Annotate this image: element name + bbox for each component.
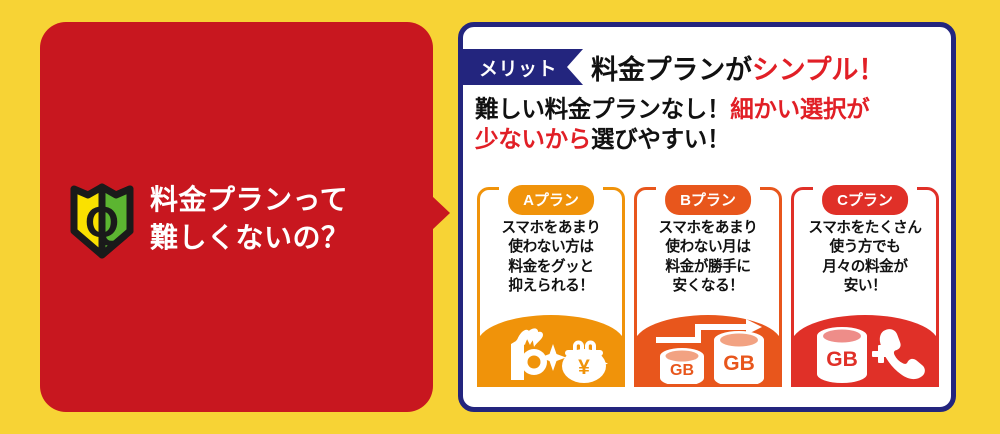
plan-card-b-badge: Bプラン [665, 185, 751, 215]
gb-cylinder-plus-phone-icon: GB [803, 318, 927, 384]
merit-title: 料金プランがシンプル！ [591, 48, 885, 87]
plan-card-a-badge: Aプラン [508, 185, 594, 215]
merit-panel: メリット 料金プランがシンプル！ 難しい料金プランなし！細かい選択が少ないから選… [458, 22, 956, 412]
infographic-root: Q 料金プランって 難しくないの？ メリット 料金プランがシンプル！ 難しい料金… [0, 0, 1000, 434]
panel-connector-arrow-icon [432, 196, 450, 230]
merit-header: メリット 料金プランがシンプル！ [463, 49, 951, 85]
merit-sub-line1-black: 難しい料金プランなし！ [475, 96, 730, 122]
merit-ribbon-badge: メリット [463, 49, 583, 85]
plan-card-list: Aプラン スマホをあまり 使わない方は 料金をグッと 抑えられる！ [477, 187, 939, 399]
plan-card-a-body: スマホをあまり 使わない方は 料金をグッと 抑えられる！ [477, 219, 625, 297]
plan-card-a-art: ¥ [477, 315, 625, 387]
merit-sub-line2-red: 少ないから [475, 126, 591, 152]
plan-card-b-art: GB GB [634, 315, 782, 387]
merit-sub-line1-red: 細かい選択が [730, 96, 869, 122]
plan-card-a[interactable]: Aプラン スマホをあまり 使わない方は 料金をグッと 抑えられる！ [477, 187, 625, 387]
gb-label: GB [826, 348, 858, 371]
gb-data-cylinders-arrow-icon: GB GB [646, 318, 770, 384]
plan-card-b[interactable]: Bプラン スマホをあまり 使わない月は 料金が勝手に 安くなる！ [634, 187, 782, 387]
merit-title-black: 料金プランが [591, 55, 752, 85]
question-content: Q 料金プランって 難しくないの？ [68, 178, 408, 260]
merit-title-red: シンプル！ [752, 55, 885, 85]
yen-symbol: ¥ [578, 356, 590, 379]
plan-card-c-body: スマホをたくさん 使う方でも 月々の料金が 安い！ [791, 219, 939, 297]
plan-card-c[interactable]: Cプラン スマホをたくさん 使う方でも 月々の料金が 安い！ GB [791, 187, 939, 387]
gb-label-large: GB [723, 352, 755, 375]
merit-ribbon-label: メリット [479, 54, 557, 81]
merit-subtitle: 難しい料金プランなし！細かい選択が少ないから選びやすい！ [475, 95, 945, 154]
svg-text:Q: Q [85, 198, 119, 247]
plan-card-c-badge: Cプラン [822, 185, 908, 215]
q-shield-logo-icon: Q [68, 179, 136, 259]
question-text: 料金プランって 難しくないの？ [150, 181, 350, 256]
gb-label-small: GB [670, 362, 694, 379]
plan-card-c-art: GB [791, 315, 939, 387]
ok-hand-and-coin-purse-icon: ¥ [491, 318, 611, 384]
plan-card-b-body: スマホをあまり 使わない月は 料金が勝手に 安くなる！ [634, 219, 782, 297]
merit-sub-line2-black: 選びやすい！ [591, 126, 730, 152]
